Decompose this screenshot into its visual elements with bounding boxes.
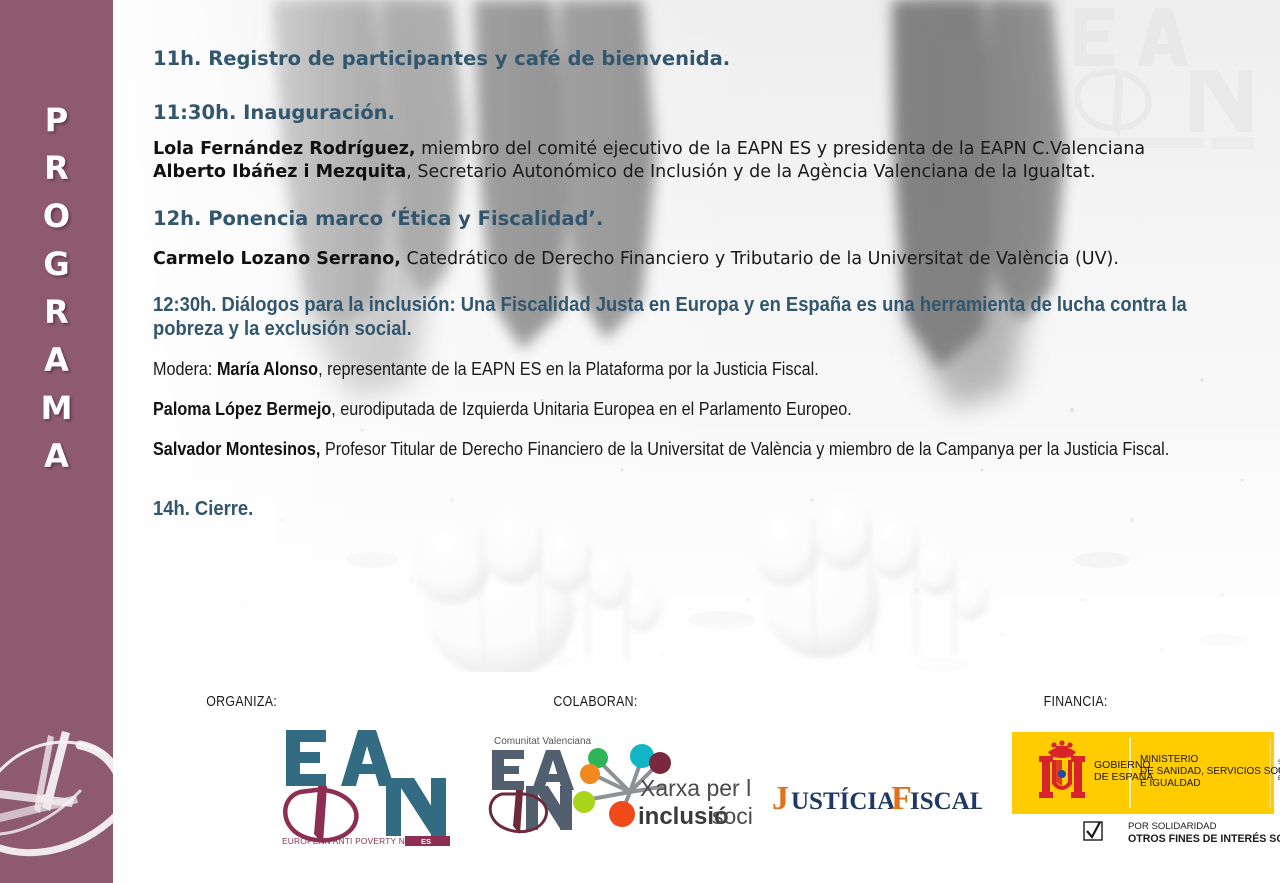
xarxa-logo-artwork: Comunitat Valenciana (480, 730, 752, 842)
footer-label-colaboran: COLABORAN: (553, 694, 637, 710)
speaker-role-salvador: Profesor Titular de Derecho Financiero d… (320, 439, 1169, 459)
sidebar-letter-p1: P (0, 96, 113, 144)
eapn-es-logo[interactable]: EUROPEAN ANTI POVERTY NETWORK ES (280, 726, 452, 846)
solidaridad-checkbox-icon (1084, 822, 1102, 840)
program-speaker-salvador: Salvador Montesinos, Profesor Titular de… (153, 437, 1212, 461)
speaker-name-paloma: Paloma López Bermejo (153, 399, 331, 419)
speaker-name-alberto: Alberto Ibáñez i Mezquita (153, 162, 406, 182)
gob-block2-line2: DE SANIDAD, SERVICIOS SOCIALES (1140, 766, 1280, 777)
sidebar-programa: P R O G R A M A (0, 0, 113, 883)
footer-label-financia: FINANCIA: (1044, 694, 1108, 710)
footer-sponsors: ORGANIZA: COLABORAN: FINANCIA: (122, 672, 1280, 883)
gobierno-logo-artwork: GOBIERNO DE ESPAÑA MINISTERIO DE SANIDAD… (1012, 732, 1280, 850)
sidebar-letter-o: O (0, 192, 113, 240)
xarxa-supertitle: Comunitat Valenciana (494, 736, 592, 747)
moderator-role-maria: , representante de la EAPN ES en la Plat… (318, 359, 819, 379)
sidebar-letter-r1: R (0, 144, 113, 192)
speaker-name-salvador: Salvador Montesinos, (153, 439, 320, 459)
program-heading-11h: 11h. Registro de participantes y café de… (153, 46, 1213, 72)
speaker-role-lola: miembro del comité ejecutivo de la EAPN … (416, 139, 1146, 159)
poster-canvas: P R O G R A M A (0, 0, 1280, 883)
speaker-name-lola: Lola Fernández Rodríguez, (153, 139, 416, 159)
justicia-j-cap: J (772, 780, 789, 817)
gob-block2-line1: MINISTERIO (1140, 754, 1199, 765)
sidebar-letter-r2: R (0, 288, 113, 336)
gob-check-line1: POR SOLIDARIDAD (1128, 821, 1217, 832)
speaker-role-alberto: , Secretario Autonómico de Inclusión y d… (406, 162, 1095, 182)
program-heading-1230h: 12:30h. Diálogos para la inclusión: Una … (153, 293, 1213, 341)
moderator-name-maria: María Alonso (217, 359, 318, 379)
footer-label-organiza: ORGANIZA: (206, 694, 277, 710)
justicia-fiscal-logo[interactable]: J USTÍCIA F ISCAL (772, 776, 982, 818)
eapn-swirl-decoration-icon (0, 695, 113, 865)
xarxa-title-social: social (712, 803, 752, 829)
speaker-name-carmelo: Carmelo Lozano Serrano, (153, 249, 401, 269)
program-speaker-alberto: Alberto Ibáñez i Mezquita, Secretario Au… (153, 161, 1213, 184)
gobierno-espana-logo[interactable]: GOBIERNO DE ESPAÑA MINISTERIO DE SANIDAD… (1012, 732, 1280, 850)
gob-block2-line3: E IGUALDAD (1140, 778, 1201, 789)
sidebar-divider (113, 0, 122, 883)
program-content: 11h. Registro de participantes y café de… (153, 46, 1213, 521)
program-speaker-carmelo: Carmelo Lozano Serrano, Catedrático de D… (153, 248, 1213, 271)
sidebar-letter-a2: A (0, 432, 113, 480)
gob-check-line2: OTROS FINES DE INTERÉS SOCIAL (1128, 832, 1280, 845)
sidebar-title-programa: P R O G R A M A (0, 96, 113, 480)
program-moderator-line: Modera: María Alonso, representante de l… (153, 357, 1212, 381)
sidebar-letter-g: G (0, 240, 113, 288)
sidebar-letter-m: M (0, 384, 113, 432)
justicia-fiscal-artwork: J USTÍCIA F ISCAL (772, 776, 982, 818)
fiscal-rest: ISCAL (910, 788, 982, 815)
program-speaker-paloma: Paloma López Bermejo, eurodiputada de Iz… (153, 397, 1212, 421)
eapn-es-logo-artwork: EUROPEAN ANTI POVERTY NETWORK ES (280, 726, 452, 846)
justicia-rest: USTÍCIA (791, 787, 895, 815)
fiscal-f-cap: F (891, 780, 912, 817)
xarxa-inclusio-social-logo[interactable]: Comunitat Valenciana (480, 730, 752, 842)
program-heading-1130h: 11:30h. Inauguración. (153, 100, 1213, 126)
eapn-logo-es-badge: ES (421, 837, 431, 846)
speaker-role-paloma: , eurodiputada de Izquierda Unitaria Eur… (331, 399, 852, 419)
moderator-prefix: Modera: (153, 359, 217, 379)
program-speaker-lola: Lola Fernández Rodríguez, miembro del co… (153, 138, 1213, 161)
xarxa-title-line1: Xarxa per la (640, 775, 752, 801)
sidebar-letter-a1: A (0, 336, 113, 384)
program-heading-14h: 14h. Cierre. (153, 497, 1213, 521)
speaker-role-carmelo: Catedrático de Derecho Financiero y Trib… (401, 249, 1119, 269)
program-heading-12h: 12h. Ponencia marco ‘Ética y Fiscalidad’… (153, 206, 1213, 232)
